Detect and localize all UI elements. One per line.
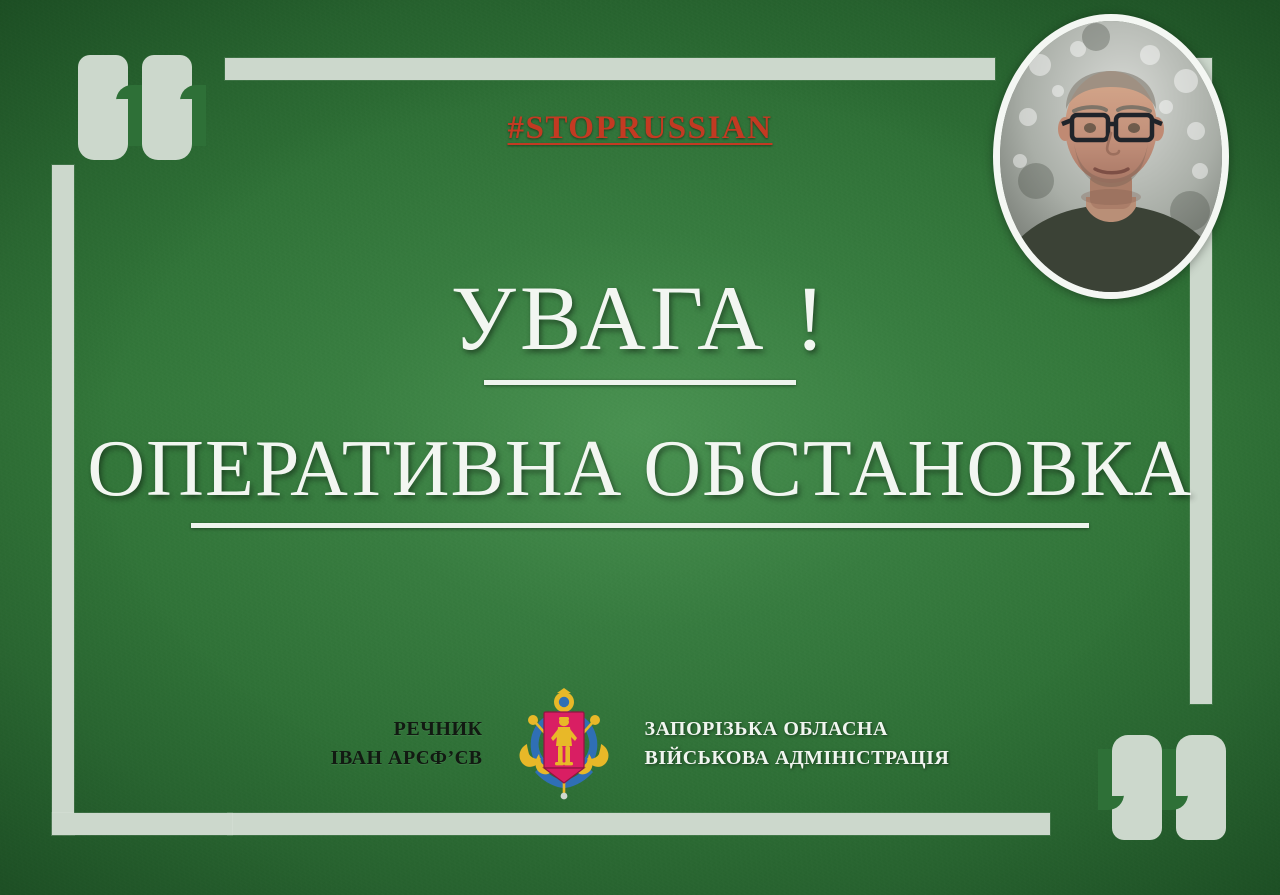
headline-secondary-wrap: ОПЕРАТИВНА ОБСТАНОВКА [0,429,1280,528]
footer: РЕЧНИК ІВАН АРЄФ’ЄВ [0,688,1280,800]
coat-of-arms-icon [509,688,619,800]
poster-canvas: #STOPRUSSIAN УВАГА ! ОПЕРАТИВНА ОБСТАНОВ… [0,0,1280,895]
page-subtitle: ОПЕРАТИВНА ОБСТАНОВКА [0,429,1280,509]
frame-bar-bottom-left-foot [52,813,232,835]
authority-block: ЗАПОРІЗЬКА ОБЛАСНА ВІЙСЬКОВА АДМІНІСТРАЦ… [645,715,950,773]
headline-secondary-underline [191,523,1089,528]
spokesperson-name: ІВАН АРЄФ’ЄВ [331,744,483,773]
headline-primary-underline [484,380,796,385]
authority-line-1: ЗАПОРІЗЬКА ОБЛАСНА [645,715,950,744]
authority-line-2: ВІЙСЬКОВА АДМІНІСТРАЦІЯ [645,744,950,773]
frame-bar-top [225,58,995,80]
spokesperson-block: РЕЧНИК ІВАН АРЄФ’ЄВ [331,715,483,773]
headline-block: УВАГА ! ОПЕРАТИВНА ОБСТАНОВКА [0,272,1280,528]
frame-bar-bottom [228,813,1050,835]
spokesperson-role: РЕЧНИК [331,715,483,744]
avatar [993,14,1229,299]
